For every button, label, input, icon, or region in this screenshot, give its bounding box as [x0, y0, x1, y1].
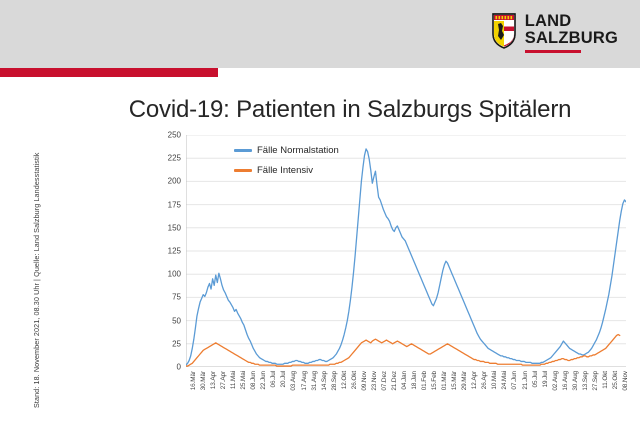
- x-axis-tick-label: 08.Jun: [250, 371, 257, 390]
- x-axis-tick-label: 04.Jan: [401, 371, 408, 390]
- y-axis-tick-label: 225: [168, 154, 181, 163]
- legend-swatch-intensiv: [234, 169, 252, 172]
- source-note: Stand: 18. November 2021, 08.30 Uhr | Qu…: [32, 128, 41, 408]
- x-axis-tick-label: 10.Mai: [491, 371, 498, 390]
- x-axis-tick-label: 30.Aug: [572, 371, 579, 391]
- y-axis-tick-label: 150: [168, 223, 181, 232]
- x-axis-tick-label: 11.Okt: [602, 371, 609, 389]
- page-title: Covid-19: Patienten in Salzburgs Spitäle…: [0, 96, 640, 124]
- x-axis-tick-label: 07.Dez: [381, 371, 388, 391]
- x-axis-tick-label: 27.Apr: [220, 371, 227, 389]
- y-axis-tick-label: 50: [172, 316, 181, 325]
- y-axis-tick-label: 175: [168, 200, 181, 209]
- x-axis-tick-label: 23.Nov: [371, 371, 378, 391]
- x-axis-tick-label: 12.Apr: [471, 371, 478, 389]
- logo-underline: [525, 50, 581, 53]
- x-axis-tick-label: 13.Apr: [210, 371, 217, 389]
- y-axis-tick-label: 100: [168, 270, 181, 279]
- x-axis-tick-label: 29.Mär: [461, 371, 468, 390]
- y-axis-tick-label: 250: [168, 131, 181, 140]
- logo-text-line-1: LAND: [525, 13, 618, 30]
- chart-legend: Fälle Normalstation Fälle Intensiv: [234, 145, 339, 185]
- x-axis-tick-label: 21.Dez: [391, 371, 398, 391]
- legend-swatch-normalstation: [234, 149, 252, 152]
- legend-label-intensiv: Fälle Intensiv: [257, 165, 313, 176]
- x-axis-tick-label: 24.Mai: [501, 371, 508, 390]
- x-axis-tick-label: 30.Mär: [200, 371, 207, 390]
- y-axis-tick-label: 200: [168, 177, 181, 186]
- x-axis-tick-label: 13.Sep: [582, 371, 589, 391]
- x-axis-ticks: 16.Mär30.Mär13.Apr27.Apr11.Mai25.Mai08.J…: [186, 371, 626, 417]
- x-axis-tick-label: 09.Nov: [361, 371, 368, 391]
- land-salzburg-logo: LAND SALZBURG: [491, 13, 618, 53]
- x-axis-tick-label: 16.Mär: [190, 371, 197, 390]
- x-axis-tick-label: 01.Feb: [421, 371, 428, 390]
- x-axis-tick-label: 06.Jul: [270, 371, 277, 387]
- x-axis-tick-label: 18.Jan: [411, 371, 418, 390]
- logo-text-line-2: SALZBURG: [525, 30, 618, 47]
- x-axis-tick-label: 26.Apr: [481, 371, 488, 389]
- x-axis-tick-label: 14.Sep: [321, 371, 328, 391]
- x-axis-tick-label: 01.Mär: [441, 371, 448, 390]
- legend-label-normalstation: Fälle Normalstation: [257, 145, 339, 156]
- salzburg-coat-of-arms-icon: [491, 13, 517, 49]
- y-axis-tick-label: 0: [177, 363, 181, 372]
- y-axis-tick-label: 125: [168, 247, 181, 256]
- y-axis-tick-label: 75: [172, 293, 181, 302]
- x-axis-tick-label: 05.Jul: [532, 371, 539, 387]
- x-axis-tick-label: 08.Nov: [622, 371, 629, 391]
- x-axis-tick-label: 20.Jul: [280, 371, 287, 387]
- x-axis-tick-label: 16.Aug: [562, 371, 569, 391]
- x-axis-tick-label: 26.Okt: [351, 371, 358, 389]
- covid-patients-chart: 0255075100125150175200225250 16.Mär30.Mä…: [186, 135, 626, 375]
- x-axis-tick-label: 12.Okt: [341, 371, 348, 389]
- x-axis-tick-label: 02.Aug: [552, 371, 559, 391]
- x-axis-tick-label: 11.Mai: [230, 371, 237, 389]
- x-axis-tick-label: 15.Mär: [451, 371, 458, 390]
- x-axis-tick-label: 25.Okt: [612, 371, 619, 389]
- x-axis-tick-label: 28.Sep: [331, 371, 338, 391]
- x-axis-tick-label: 07.Jun: [511, 371, 518, 390]
- legend-item-normalstation: Fälle Normalstation: [234, 145, 339, 156]
- y-axis-tick-label: 25: [172, 339, 181, 348]
- x-axis-tick-label: 19.Jul: [542, 371, 549, 387]
- x-axis-tick-label: 03.Aug: [290, 371, 297, 391]
- x-axis-tick-label: 25.Mai: [240, 371, 247, 390]
- x-axis-tick-label: 31.Aug: [311, 371, 318, 391]
- legend-item-intensiv: Fälle Intensiv: [234, 165, 339, 176]
- x-axis-tick-label: 27.Sep: [592, 371, 599, 391]
- x-axis-tick-label: 17.Aug: [301, 371, 308, 391]
- x-axis-tick-label: 22.Jun: [260, 371, 267, 390]
- x-axis-tick-label: 15.Feb: [431, 371, 438, 390]
- header-accent-bar: [0, 68, 218, 77]
- x-axis-tick-label: 21.Jun: [522, 371, 529, 390]
